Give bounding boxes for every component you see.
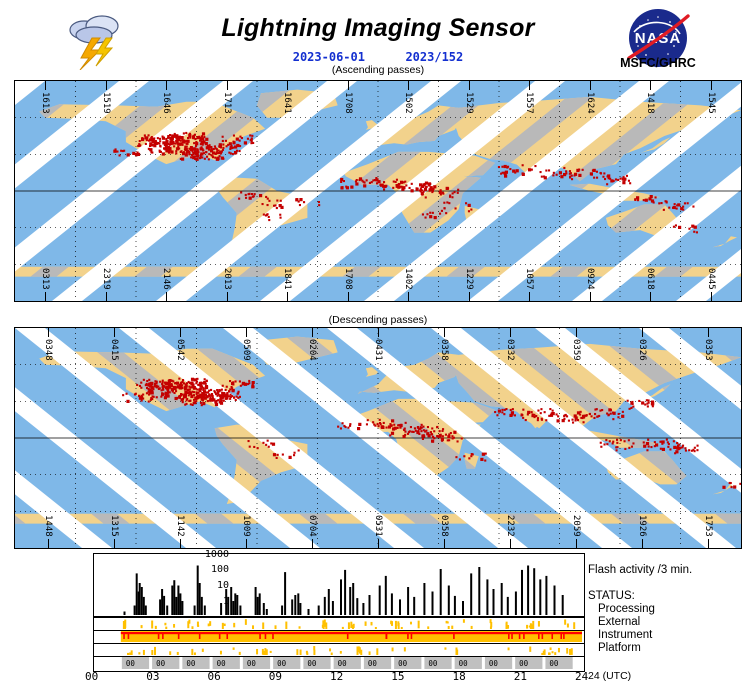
external-tick [563, 634, 565, 639]
platform-cell-label: 00 [398, 659, 408, 668]
map-tick-mark [642, 539, 643, 548]
flash-bar [493, 589, 495, 615]
map-time-label: 1926 [637, 515, 647, 537]
flash-bar [352, 583, 354, 615]
flash-bar [521, 570, 523, 615]
flash-bar [545, 576, 547, 615]
instrument-bump [264, 648, 266, 655]
instrument-bump [296, 649, 298, 655]
instrument-bump [256, 649, 258, 654]
flash-bar [501, 583, 503, 615]
map-tick-mark [348, 81, 349, 90]
map-time-label: 0415 [109, 339, 119, 361]
external-tick [178, 634, 180, 639]
x-tick-label: 09 [269, 670, 282, 683]
instrument-bump [571, 648, 573, 655]
flash-bar [356, 598, 358, 615]
processing-bump [448, 626, 450, 629]
flash-bar [141, 587, 143, 615]
flash-bar [284, 572, 286, 615]
map-tick-mark [45, 292, 46, 301]
processing-bump [197, 625, 199, 627]
processing-bump [397, 621, 399, 626]
map-tick-mark [510, 539, 511, 548]
flash-bar [362, 603, 364, 615]
instrument-bump [127, 653, 129, 655]
map-time-label: 1708 [343, 268, 353, 290]
flash-bar [391, 593, 393, 615]
map-tick-mark [180, 328, 181, 337]
instrument-bump [233, 647, 235, 649]
map-tick-mark [227, 81, 228, 90]
platform-cell-label: 00 [428, 659, 438, 668]
external-tick [453, 634, 455, 639]
external-tick [511, 634, 513, 639]
flash-bar [124, 612, 126, 616]
external-tick [386, 634, 388, 639]
instrument-bump [202, 649, 204, 652]
map-time-label: 1641 [282, 92, 292, 114]
map-tick-mark [708, 328, 709, 337]
platform-cell-label: 00 [549, 659, 559, 668]
external-tick [259, 634, 261, 639]
instrument-bump [558, 648, 560, 652]
external-tick [523, 634, 525, 639]
map-tick-mark [590, 292, 591, 301]
map-tick-mark [529, 292, 530, 301]
flash-bar [134, 606, 136, 616]
map-tick-mark [708, 539, 709, 548]
flash-bar [299, 603, 301, 615]
map-time-label: 0353 [703, 339, 713, 361]
instrument-bump [306, 651, 308, 654]
flash-bar [369, 595, 371, 615]
external-tick [538, 634, 540, 639]
instrument-bump [270, 651, 272, 653]
map-tick-mark [510, 328, 511, 337]
flash-bar [291, 599, 293, 615]
map-time-label: 0358 [439, 339, 449, 361]
flash-bar [263, 603, 265, 615]
external-tick [542, 634, 544, 639]
flash-bar [399, 599, 401, 615]
flash-bar [230, 587, 232, 615]
map-time-label: 1841 [282, 268, 292, 290]
map-time-label: 1613 [40, 92, 50, 114]
flash-bar [324, 597, 326, 615]
flash-bar [255, 587, 257, 615]
map-tick-mark [287, 292, 288, 301]
flash-bar [297, 593, 299, 615]
map-tick-mark [529, 81, 530, 90]
external-tick [560, 634, 562, 639]
map-tick-mark [444, 328, 445, 337]
flash-bar [562, 595, 564, 615]
flash-bar [462, 601, 464, 615]
external-tick [347, 634, 349, 639]
processing-bump [529, 625, 531, 627]
flash-bar [448, 586, 450, 616]
map-tick-mark [642, 328, 643, 337]
map-tick-mark [114, 539, 115, 548]
instrument-bump [131, 650, 133, 655]
instrument-bump [143, 650, 145, 655]
map-tick-mark [287, 81, 288, 90]
x-tick-label: 18 [453, 670, 466, 683]
processing-bump [573, 622, 575, 629]
platform-cell-label: 00 [459, 659, 469, 668]
x-tick-label: 15 [391, 670, 404, 683]
processing-bump [165, 627, 167, 629]
legend-item-platform: Platform [598, 642, 641, 655]
map-time-label: 0431 [373, 339, 383, 361]
processing-bump [567, 623, 569, 627]
flash-bar [166, 606, 168, 616]
platform-cell-label: 00 [126, 659, 136, 668]
y-tick-1: 1 [169, 596, 229, 607]
platform-cell-label: 00 [338, 659, 348, 668]
instrument-bump [138, 652, 140, 654]
map-time-label: 1624 [585, 92, 595, 114]
platform-cell-label: 00 [217, 659, 227, 668]
map-time-label: 2059 [571, 515, 581, 537]
x-tick-label: 03 [146, 670, 159, 683]
map-tick-mark [711, 292, 712, 301]
platform-cell-label: 00 [519, 659, 529, 668]
map-time-label: 1753 [703, 515, 713, 537]
map-time-label: 0358 [439, 515, 449, 537]
world-map-graphic [15, 81, 741, 301]
map-time-label: 0313 [40, 268, 50, 290]
platform-cell-label: 00 [368, 659, 378, 668]
flash-bar [379, 586, 381, 616]
platform-cell-label: 00 [186, 659, 196, 668]
instrument-bump [151, 650, 153, 655]
map-time-label: 0445 [706, 268, 716, 290]
processing-bump [275, 625, 277, 629]
processing-bump [471, 626, 473, 629]
map-time-label: 1529 [464, 92, 474, 114]
flash-bar [159, 599, 161, 615]
processing-bump [463, 619, 465, 623]
instrument-bump [220, 651, 222, 655]
instrument-bump [566, 648, 568, 654]
processing-bump [151, 621, 153, 629]
processing-bump [222, 623, 224, 629]
instrument-bump [529, 647, 531, 652]
external-tick [519, 634, 521, 639]
map-time-label: 1646 [161, 92, 171, 114]
map-time-label: 1519 [101, 92, 111, 114]
processing-bump [526, 625, 528, 629]
processing-bump [285, 622, 287, 629]
flash-bar [440, 569, 442, 615]
processing-bump [252, 625, 254, 629]
instrument-bump [313, 650, 315, 655]
legend-item-external: External [598, 616, 640, 629]
flash-activity-plot [93, 553, 585, 617]
platform-cell-label: 00 [247, 659, 257, 668]
map-tick-mark [166, 292, 167, 301]
observation-date: 2023-06-01 [293, 50, 365, 64]
processing-bump [451, 626, 453, 629]
legend-item-processing: Processing [598, 603, 655, 616]
y-tick-10: 10 [169, 580, 229, 591]
flash-bar [527, 566, 529, 616]
map-time-label: 1502 [403, 92, 413, 114]
map-time-label: 1713 [222, 92, 232, 114]
processing-bump [371, 622, 373, 625]
map-tick-mark [650, 292, 651, 301]
map-tick-mark [312, 328, 313, 337]
flash-bar [385, 576, 387, 615]
instrument-bump [177, 652, 179, 655]
flash-bar [507, 597, 509, 615]
flash-bar [332, 601, 334, 615]
instrument-bump [331, 653, 333, 655]
flash-bar [478, 567, 480, 615]
flash-bar [308, 609, 310, 615]
map-tick-mark [469, 81, 470, 90]
instrument-bump [543, 651, 545, 655]
legend-title: Flash activity /3 min. [588, 564, 692, 577]
map-time-label: 0531 [373, 515, 383, 537]
flash-bar [136, 573, 138, 615]
instrument-bump [369, 651, 371, 655]
external-tick [265, 634, 267, 639]
flash-bar [143, 597, 145, 615]
external-tick [123, 634, 125, 639]
map-tick-mark [408, 292, 409, 301]
flash-bar [236, 595, 238, 615]
instrument-bump [376, 648, 378, 655]
instrument-bump [359, 647, 361, 653]
instrument-bump [455, 647, 457, 655]
external-tick [411, 634, 413, 639]
processing-bump [391, 621, 393, 626]
x-axis-label: 24 (UTC) [588, 670, 631, 682]
instrument-bump [194, 652, 196, 655]
processing-bump [505, 623, 507, 629]
external-tick [128, 634, 130, 639]
flash-bar [318, 606, 320, 616]
instrument-bump [169, 651, 171, 655]
instrument-bump [550, 647, 552, 650]
map-time-label: 2013 [222, 268, 232, 290]
external-tick [508, 634, 510, 639]
processing-bump [348, 622, 350, 629]
map-tick-mark [246, 328, 247, 337]
flash-bar [281, 606, 283, 616]
map-tick-mark [246, 539, 247, 548]
processing-bump [564, 619, 566, 624]
flash-bar [486, 579, 488, 615]
external-tick [162, 634, 164, 639]
flash-bar [340, 579, 342, 615]
map-tick-mark [48, 328, 49, 337]
instrument-bump [404, 647, 406, 651]
instrument-bump [154, 647, 156, 655]
processing-bump [410, 622, 412, 625]
map-tick-mark [711, 81, 712, 90]
map-tick-mark [378, 328, 379, 337]
processing-bump [245, 619, 247, 625]
flash-bar [454, 596, 456, 615]
map-time-label: 2319 [101, 268, 111, 290]
processing-bump [191, 626, 193, 629]
map-tick-mark [576, 328, 577, 337]
flash-bar [266, 609, 268, 615]
map-time-label: 0348 [43, 339, 53, 361]
y-tick-1000: 1000 [169, 549, 229, 560]
day-of-year: 2023/152 [405, 50, 463, 64]
processing-bump [418, 621, 420, 629]
processing-bump [325, 622, 327, 629]
map-time-label: 0359 [571, 339, 581, 361]
descending-pass-caption: (Descending passes) [0, 314, 756, 326]
map-time-label: 1315 [109, 515, 119, 537]
instrument-bump [548, 652, 550, 655]
flash-bar [515, 592, 517, 616]
processing-bump [208, 623, 210, 626]
instrument-bump [552, 651, 554, 653]
processing-bump [164, 623, 166, 626]
flash-bar [163, 596, 165, 615]
x-tick-label: 06 [208, 670, 221, 683]
x-tick-label: 00 [85, 670, 98, 683]
map-tick-mark [106, 292, 107, 301]
flash-bar [257, 597, 259, 615]
processing-bump [187, 621, 189, 628]
flash-bar [554, 586, 556, 616]
map-time-label: 1009 [241, 515, 251, 537]
processing-bump [342, 627, 344, 629]
flash-bar [239, 606, 241, 616]
processing-bump [322, 625, 324, 628]
x-tick-label: 21 [514, 670, 527, 683]
map-tick-mark [576, 539, 577, 548]
map-time-label: 0509 [241, 339, 251, 361]
flash-bar [533, 568, 535, 615]
legend-item-instrument: Instrument [598, 629, 652, 642]
external-tick [407, 634, 409, 639]
map-time-label: 1448 [43, 515, 53, 537]
instrument-bump [329, 648, 331, 651]
instrument-bump [239, 652, 241, 655]
processing-bump [224, 624, 226, 626]
map-time-label: 1418 [645, 92, 655, 114]
instrument-bump [444, 647, 446, 649]
platform-cell-label: 00 [489, 659, 499, 668]
flash-bar [349, 587, 351, 615]
map-time-label: 1402 [403, 268, 413, 290]
map-tick-mark [348, 292, 349, 301]
flash-bar [407, 587, 409, 615]
map-time-label: 0542 [175, 339, 185, 361]
map-time-label: 0924 [585, 268, 595, 290]
map-tick-mark [444, 539, 445, 548]
external-tick [551, 634, 553, 639]
processing-bump [532, 626, 534, 629]
processing-bump [538, 621, 540, 627]
processing-bump [401, 627, 403, 629]
flash-bar [294, 595, 296, 615]
flash-bar [232, 601, 234, 615]
processing-bump [490, 626, 492, 629]
map-time-label: 1229 [464, 268, 474, 290]
map-time-label: 1708 [343, 92, 353, 114]
page-header: Lightning Imaging Sensor 2023-06-01 2023… [0, 0, 756, 78]
processing-bump [353, 624, 355, 628]
map-time-label: 2232 [505, 515, 515, 537]
flash-bar [139, 583, 141, 615]
instrument-bump [554, 652, 556, 655]
map-tick-mark [180, 539, 181, 548]
processing-bump [262, 622, 264, 629]
flash-bar [423, 583, 425, 615]
processing-bump [427, 626, 429, 629]
map-tick-mark [114, 328, 115, 337]
map-tick-mark [590, 81, 591, 90]
map-time-label: 1142 [175, 515, 185, 537]
map-time-label: 0326 [637, 339, 647, 361]
map-tick-mark [469, 292, 470, 301]
agency-label: MSFC/GHRC [592, 56, 724, 70]
map-tick-mark [408, 81, 409, 90]
map-tick-mark [106, 81, 107, 90]
map-tick-mark [378, 539, 379, 548]
map-tick-mark [45, 81, 46, 90]
map-tick-mark [48, 539, 49, 548]
platform-cell-label: 00 [156, 659, 166, 668]
x-tick-label: 12 [330, 670, 343, 683]
flash-bar [259, 593, 261, 615]
processing-bump [365, 621, 367, 625]
instrument-bump [569, 649, 571, 655]
processing-bump [141, 625, 143, 628]
instrument-bump [340, 651, 342, 654]
processing-bump [299, 626, 301, 628]
instrument-bump [191, 649, 193, 655]
ascending-pass-map: 1613151916461713164117081502152915571624… [14, 80, 742, 302]
flash-bar [344, 570, 346, 615]
x-tick-label: 24 [575, 670, 588, 683]
flash-activity-bars [94, 554, 584, 616]
flash-bar [145, 606, 147, 616]
descending-pass-map: 0348041505420509020404310358033203590326… [14, 327, 742, 549]
instrument-bump [392, 648, 394, 652]
flash-activity-panel: 1000 100 10 1 00000000000000000000000000… [60, 548, 756, 680]
flash-bar [432, 592, 434, 616]
flash-bar [328, 589, 330, 615]
external-tick [219, 634, 221, 639]
instrument-bump [262, 649, 264, 655]
map-time-label: 0704 [307, 515, 317, 537]
y-tick-100: 100 [169, 564, 229, 575]
map-time-label: 0332 [505, 339, 515, 361]
processing-bump [375, 627, 377, 629]
map-tick-mark [650, 81, 651, 90]
map-tick-mark [166, 81, 167, 90]
map-canvas-ascending [15, 81, 741, 301]
flash-bar [470, 573, 472, 615]
map-time-label: 1557 [524, 92, 534, 114]
map-tick-mark [227, 292, 228, 301]
flash-bar [161, 589, 163, 615]
external-tick [158, 634, 160, 639]
instrument-bump [313, 646, 315, 650]
processing-bump [155, 626, 157, 629]
